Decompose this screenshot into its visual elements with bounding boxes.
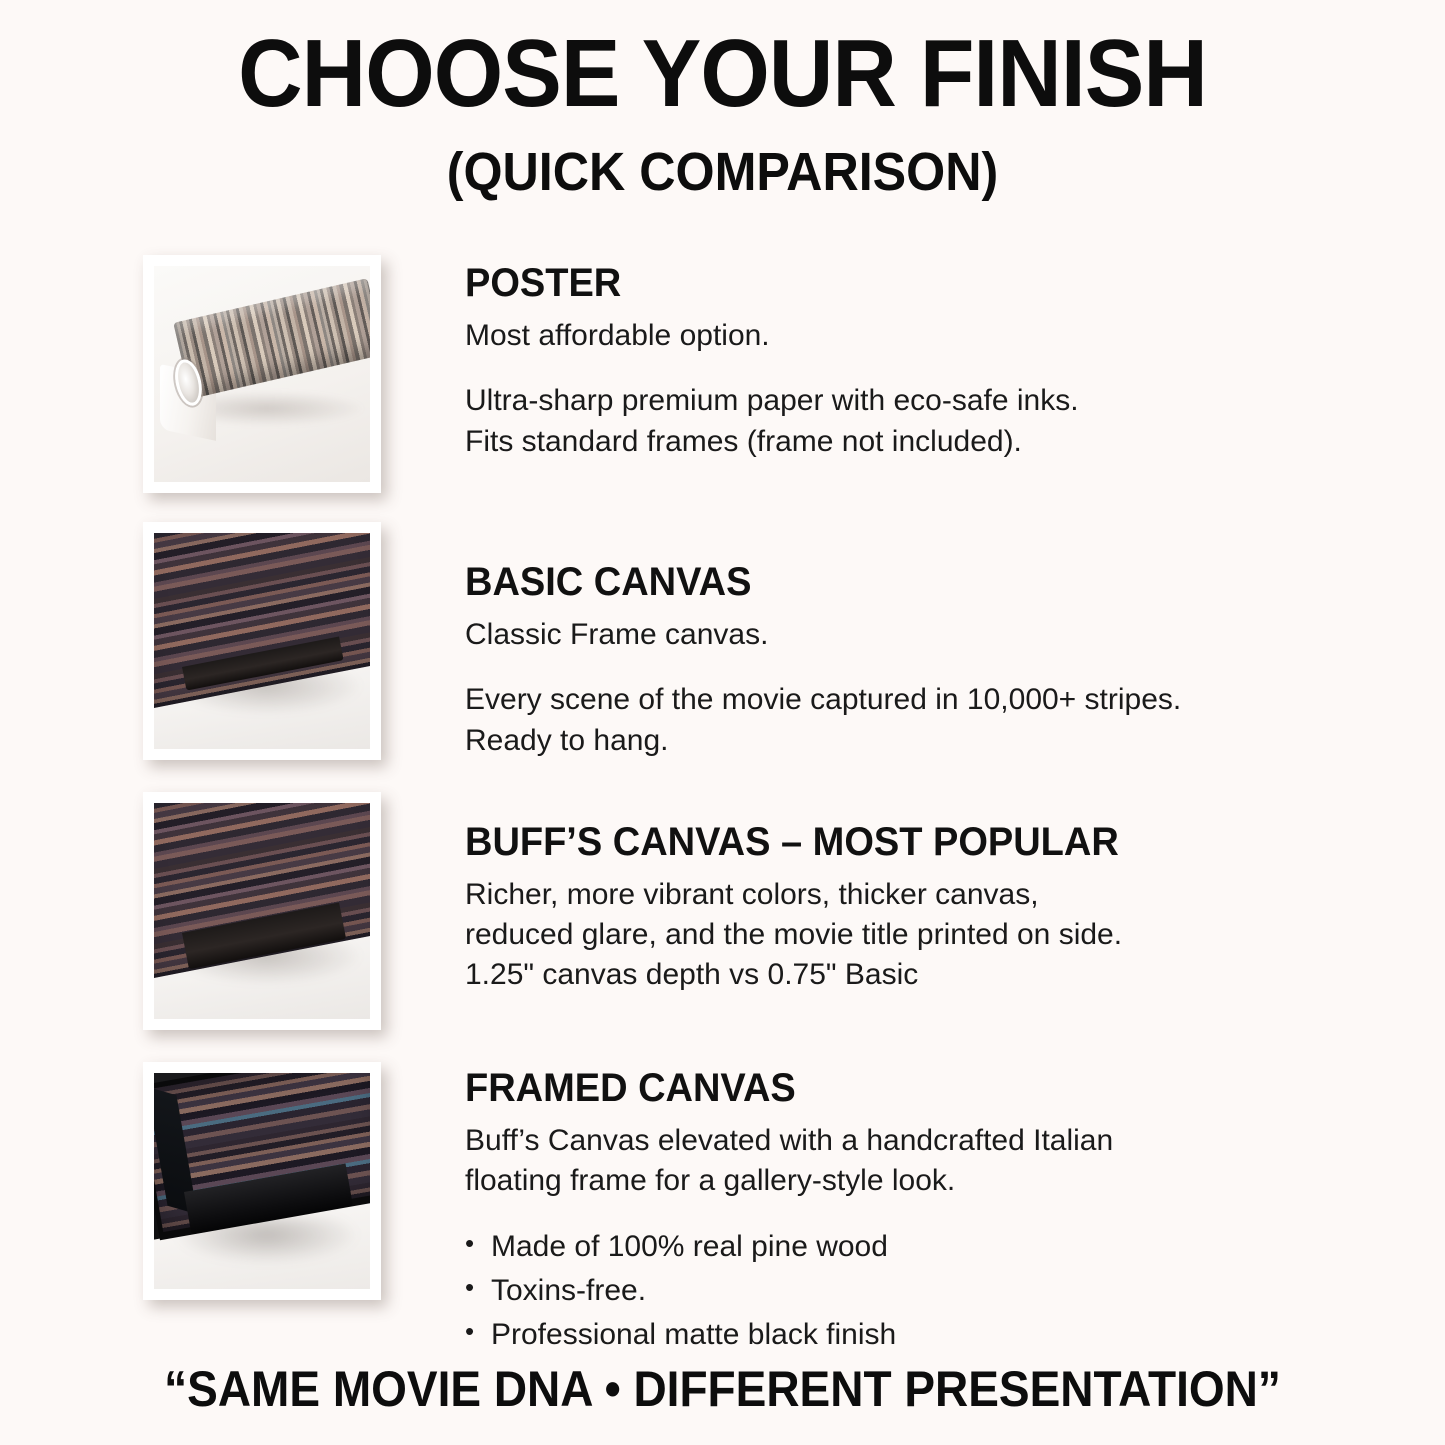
option-title-basic-canvas: BASIC CANVAS: [465, 560, 1145, 605]
body-line: floating frame for a gallery-style look.: [465, 1161, 1113, 1201]
option-lead-poster: Most affordable option.: [465, 316, 1079, 356]
body-line: Buff’s Canvas elevated with a handcrafte…: [465, 1121, 1113, 1161]
option-body-buffs-canvas: Richer, more vibrant colors, thicker can…: [465, 875, 1153, 996]
list-item: Made of 100% real pine wood: [465, 1225, 1113, 1269]
page-title: CHOOSE YOUR FINISH: [51, 24, 1395, 125]
framed-canvas-image: [154, 1073, 370, 1289]
poster-roll-image: [154, 266, 370, 482]
page-subtitle: (QUICK COMPARISON): [51, 143, 1395, 202]
footer-tagline: “SAME MOVIE DNA • DIFFERENT PRESENTATION…: [58, 1362, 1387, 1417]
body-line: Every scene of the movie captured in 10,…: [465, 680, 1181, 720]
option-lead-basic-canvas: Classic Frame canvas.: [465, 615, 1181, 655]
option-body-poster: Ultra-sharp premium paper with eco-safe …: [465, 381, 1079, 461]
thumbnail-card-poster: [143, 255, 381, 493]
option-body-framed-canvas: Buff’s Canvas elevated with a handcrafte…: [465, 1121, 1113, 1201]
option-text-poster: POSTER Most affordable option. Ultra-sha…: [465, 255, 1079, 462]
infographic-page: CHOOSE YOUR FINISH (QUICK COMPARISON) PO…: [0, 0, 1445, 1445]
option-text-framed-canvas: FRAMED CANVAS Buff’s Canvas elevated wit…: [465, 1062, 1113, 1357]
body-line: Fits standard frames (frame not included…: [465, 422, 1079, 462]
option-title-buffs-canvas: BUFF’S CANVAS – MOST POPULAR: [465, 820, 1119, 865]
option-text-basic-canvas: BASIC CANVAS Classic Frame canvas. Every…: [465, 522, 1181, 761]
option-row-framed-canvas: FRAMED CANVAS Buff’s Canvas elevated wit…: [143, 1062, 1113, 1357]
option-title-framed-canvas: FRAMED CANVAS: [465, 1066, 1081, 1111]
thumbnail-card-buffs-canvas: [143, 792, 381, 1030]
option-body-basic-canvas: Every scene of the movie captured in 10,…: [465, 680, 1181, 760]
body-line: Ultra-sharp premium paper with eco-safe …: [465, 381, 1079, 421]
footer: “SAME MOVIE DNA • DIFFERENT PRESENTATION…: [0, 1362, 1445, 1417]
body-line: 1.25" canvas depth vs 0.75" Basic: [465, 955, 1153, 995]
framed-canvas-bullet-list: Made of 100% real pine wood Toxins-free.…: [465, 1225, 1113, 1356]
header: CHOOSE YOUR FINISH (QUICK COMPARISON): [0, 24, 1445, 202]
option-text-buffs-canvas: BUFF’S CANVAS – MOST POPULAR Richer, mor…: [465, 792, 1153, 995]
option-row-poster: POSTER Most affordable option. Ultra-sha…: [143, 255, 1079, 493]
basic-canvas-image: [154, 533, 370, 749]
option-title-poster: POSTER: [465, 261, 1048, 306]
option-row-buffs-canvas: BUFF’S CANVAS – MOST POPULAR Richer, mor…: [143, 792, 1153, 1030]
thumbnail-card-framed-canvas: [143, 1062, 381, 1300]
option-row-basic-canvas: BASIC CANVAS Classic Frame canvas. Every…: [143, 522, 1181, 761]
body-line: Richer, more vibrant colors, thicker can…: [465, 875, 1153, 915]
body-line: reduced glare, and the movie title print…: [465, 915, 1153, 955]
list-item: Professional matte black finish: [465, 1313, 1113, 1357]
list-item: Toxins-free.: [465, 1269, 1113, 1313]
buffs-canvas-image: [154, 803, 370, 1019]
thumbnail-card-basic-canvas: [143, 522, 381, 760]
body-line: Ready to hang.: [465, 721, 1181, 761]
